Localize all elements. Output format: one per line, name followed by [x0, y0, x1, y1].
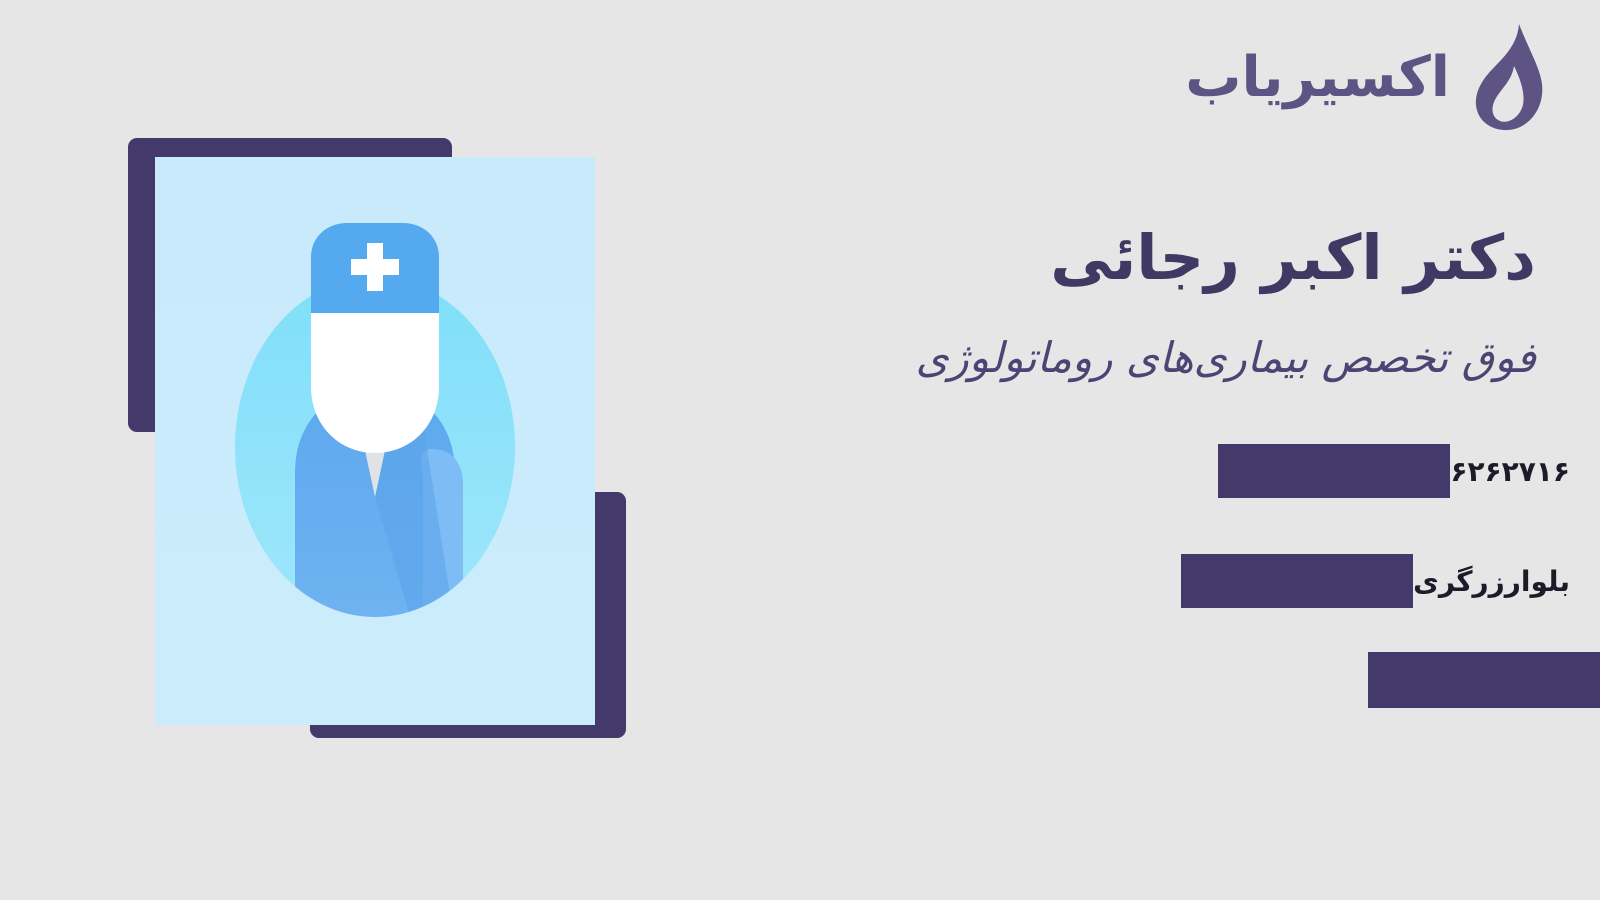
- doctor-illustration: [128, 138, 628, 740]
- brand-name: اکسیریاب: [1185, 50, 1450, 106]
- doctor-avatar-icon: [155, 157, 595, 725]
- business-card-canvas: اکسیریاب: [0, 0, 1600, 900]
- phone-number: ۶۲۶۲۷۱۶: [1450, 455, 1570, 488]
- accent-bar-3: [1368, 652, 1600, 708]
- info-row-address: بلوارزرگری: [1181, 553, 1600, 609]
- flame-leaf-icon: [1464, 22, 1552, 134]
- info-row-blank: [1368, 652, 1600, 708]
- doctor-specialty: فوق تخصص بیماری‌های روماتولوژی: [916, 332, 1536, 385]
- info-row-phone: ۶۲۶۲۷۱۶: [1218, 443, 1600, 499]
- accent-bar-1: [1218, 444, 1450, 498]
- accent-bar-2: [1181, 554, 1413, 608]
- address-text: بلوارزرگری: [1413, 565, 1570, 598]
- brand-logo[interactable]: اکسیریاب: [1185, 22, 1552, 134]
- doctor-name: دکتر اکبر رجائی: [1050, 222, 1536, 293]
